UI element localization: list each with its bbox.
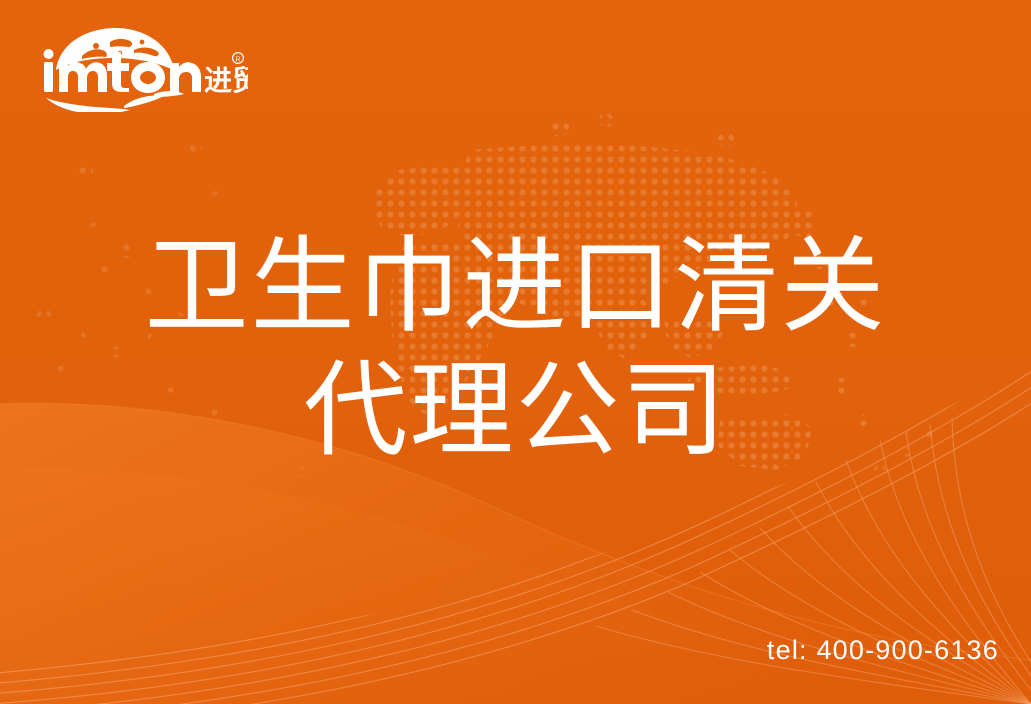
headline-line-2: 代理公司 bbox=[0, 348, 1031, 472]
brand-chinese-wordmark: 进贸通 bbox=[204, 64, 248, 97]
page-title: 卫生巾进口清关 代理公司 bbox=[0, 224, 1031, 472]
swoosh-arrow-icon bbox=[46, 91, 184, 112]
brand-logo[interactable]: 进贸通 R bbox=[38, 26, 248, 112]
registered-trademark-icon: R bbox=[233, 53, 244, 64]
promo-banner: 进贸通 R 卫生巾进口清关 代理公司 tel: 400-900-6136 bbox=[0, 0, 1031, 704]
contact-phone[interactable]: tel: 400-900-6136 bbox=[767, 635, 999, 666]
svg-text:R: R bbox=[235, 57, 240, 64]
headline-line-1: 卫生巾进口清关 bbox=[0, 224, 1031, 348]
